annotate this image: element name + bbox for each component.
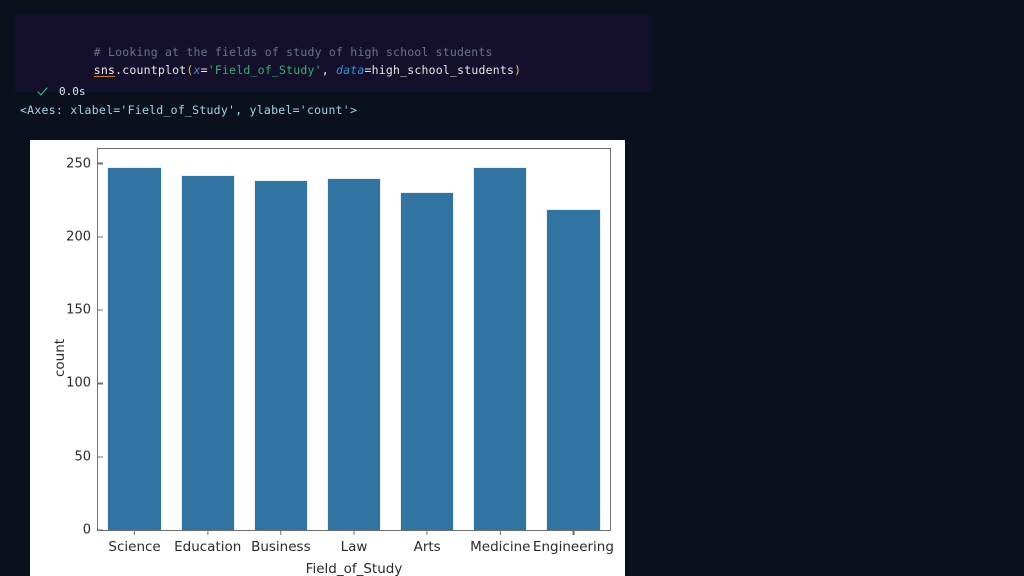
y-tick-label: 50 bbox=[74, 449, 98, 464]
notebook-screenshot: # Looking at the fields of study of high… bbox=[0, 0, 1024, 576]
y-tick-mark bbox=[98, 383, 103, 384]
code-token-open-paren: ( bbox=[186, 63, 193, 77]
bar-arts bbox=[400, 192, 454, 531]
code-token-data-arg: high_school_students bbox=[372, 63, 514, 77]
check-icon bbox=[36, 85, 49, 98]
x-tick-mark bbox=[353, 530, 354, 535]
y-tick-0: 0 bbox=[83, 523, 98, 538]
x-tick-arts: Arts bbox=[414, 530, 441, 555]
bars-container bbox=[98, 149, 610, 530]
x-tick-science: Science bbox=[108, 530, 160, 555]
code-token-close-paren: ) bbox=[514, 63, 521, 77]
code-token-string-arg: 'Field_of_Study' bbox=[208, 63, 322, 77]
y-tick-mark bbox=[98, 236, 103, 237]
x-tick-business: Business bbox=[251, 530, 311, 555]
y-tick-250: 250 bbox=[66, 156, 98, 171]
code-token-method: .countplot bbox=[115, 63, 186, 77]
y-tick-100: 100 bbox=[66, 376, 98, 391]
x-tick-mark bbox=[134, 530, 135, 535]
y-tick-label: 150 bbox=[66, 303, 98, 318]
x-tick-mark bbox=[426, 530, 427, 535]
y-tick-150: 150 bbox=[66, 303, 98, 318]
x-tick-label: Science bbox=[108, 539, 160, 555]
x-tick-engineering: Engineering bbox=[533, 530, 614, 555]
code-token-equals-2: = bbox=[364, 63, 371, 77]
bar-education bbox=[181, 175, 235, 530]
x-tick-label: Engineering bbox=[533, 539, 614, 555]
x-tick-mark bbox=[207, 530, 208, 535]
matplotlib-figure: count 050100150200250 ScienceEducationBu… bbox=[30, 140, 625, 576]
x-tick-label: Business bbox=[251, 539, 311, 555]
y-tick-200: 200 bbox=[66, 229, 98, 244]
x-tick-label: Arts bbox=[414, 539, 441, 555]
bar-engineering bbox=[546, 209, 600, 530]
code-token-equals-1: = bbox=[201, 63, 208, 77]
y-tick-label: 0 bbox=[83, 523, 98, 538]
code-cell[interactable]: # Looking at the fields of study of high… bbox=[14, 14, 652, 92]
y-axis-label: count bbox=[52, 339, 68, 377]
x-axis-label: Field_of_Study bbox=[306, 561, 403, 576]
bar-business bbox=[254, 180, 308, 530]
x-tick-education: Education bbox=[174, 530, 241, 555]
y-tick-mark bbox=[98, 529, 103, 530]
code-token-param-data: data bbox=[336, 63, 365, 77]
x-tick-label: Law bbox=[341, 539, 368, 555]
x-tick-medicine: Medicine bbox=[470, 530, 530, 555]
execution-elapsed-time: 0.0s bbox=[59, 85, 86, 98]
x-tick-law: Law bbox=[341, 530, 368, 555]
execution-status: 0.0s bbox=[36, 85, 86, 98]
y-tick-50: 50 bbox=[74, 449, 98, 464]
y-tick-label: 100 bbox=[66, 376, 98, 391]
x-tick-mark bbox=[573, 530, 574, 535]
y-tick-label: 250 bbox=[66, 156, 98, 171]
bar-medicine bbox=[473, 167, 527, 530]
y-tick-mark bbox=[98, 456, 103, 457]
code-call-line: sns.countplot(x='Field_of_Study', data=h… bbox=[51, 49, 521, 91]
code-token-comma: , bbox=[322, 63, 336, 77]
plot-axes: 050100150200250 ScienceEducationBusiness… bbox=[97, 148, 611, 531]
code-token-param-x: x bbox=[194, 63, 201, 77]
axes-repr-output: <Axes: xlabel='Field_of_Study', ylabel='… bbox=[20, 103, 357, 117]
y-tick-mark bbox=[98, 163, 103, 164]
code-token-module: sns bbox=[94, 63, 115, 77]
x-tick-label: Education bbox=[174, 539, 241, 555]
x-tick-label: Medicine bbox=[470, 539, 530, 555]
x-tick-mark bbox=[500, 530, 501, 535]
bar-science bbox=[107, 167, 161, 530]
y-tick-mark bbox=[98, 310, 103, 311]
x-tick-mark bbox=[280, 530, 281, 535]
y-tick-label: 200 bbox=[66, 229, 98, 244]
bar-law bbox=[327, 178, 381, 530]
